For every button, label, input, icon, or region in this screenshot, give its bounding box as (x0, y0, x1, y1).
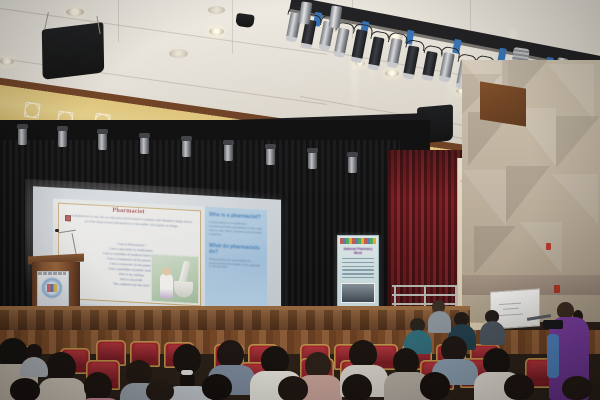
side-panel-paragraph-2: Pharmacists are responsible for ensuring… (209, 257, 263, 272)
stage-light-fixture (58, 130, 67, 147)
ceiling-downlight (209, 28, 224, 35)
event-standee-poster: National Pharmacy Week (337, 235, 379, 312)
standee-photo (341, 283, 375, 303)
ceiling-downlight (0, 58, 14, 65)
wall-wood-panel (480, 81, 526, 126)
camera-icon (543, 320, 563, 329)
stage-light-fixture (308, 152, 317, 169)
college-emblem-icon (41, 277, 63, 299)
dupatta-scarf (547, 334, 559, 378)
ceiling-seam (232, 0, 233, 54)
ceiling-downlight (169, 49, 188, 58)
presentation-slide: Pharmacist A pharmacist is one who is ed… (53, 198, 267, 314)
ceiling-downlight (208, 6, 225, 14)
ceiling-seam (470, 0, 471, 30)
floral-motif (24, 102, 41, 119)
side-panel-paragraph: A pharmacist is a healthcare professiona… (209, 221, 263, 240)
lab-coat-shape (160, 273, 173, 299)
stage-light-fixture (18, 128, 27, 145)
illustration-head (162, 267, 171, 275)
ceiling-downlight (66, 8, 84, 16)
hair-clip (181, 370, 193, 375)
sponsor-logos-strip (340, 238, 376, 244)
stage-light-fixture (98, 133, 107, 150)
hanging-loudspeaker (42, 22, 104, 80)
stage-light-fixture (348, 156, 357, 173)
pharmacist-illustration (151, 254, 199, 305)
side-panel-heading-2: What do pharmacists do? (209, 242, 263, 257)
auditorium-photograph: Pharmacist A pharmacist is one who is ed… (0, 0, 600, 400)
microphone-icon (55, 229, 59, 232)
ceiling-seam (118, 0, 119, 42)
mortar-icon (174, 281, 193, 298)
stage-light-fixture (224, 144, 233, 161)
ceiling-mounted-projector (235, 13, 255, 28)
podium-institution-text (38, 272, 66, 275)
ceiling-downlight (385, 70, 399, 77)
stage-light-fixture (266, 148, 275, 165)
fire-alarm-icon (546, 243, 551, 250)
stage-light-fixture (182, 140, 191, 157)
standee-detail-lines (342, 258, 374, 281)
stage-light-fixture (140, 137, 149, 154)
fire-alarm-box-icon (554, 285, 560, 293)
slide-side-panel: Who is a pharmacist? A pharmacist is a h… (204, 207, 267, 314)
standee-title: National Pharmacy Week (341, 247, 375, 255)
